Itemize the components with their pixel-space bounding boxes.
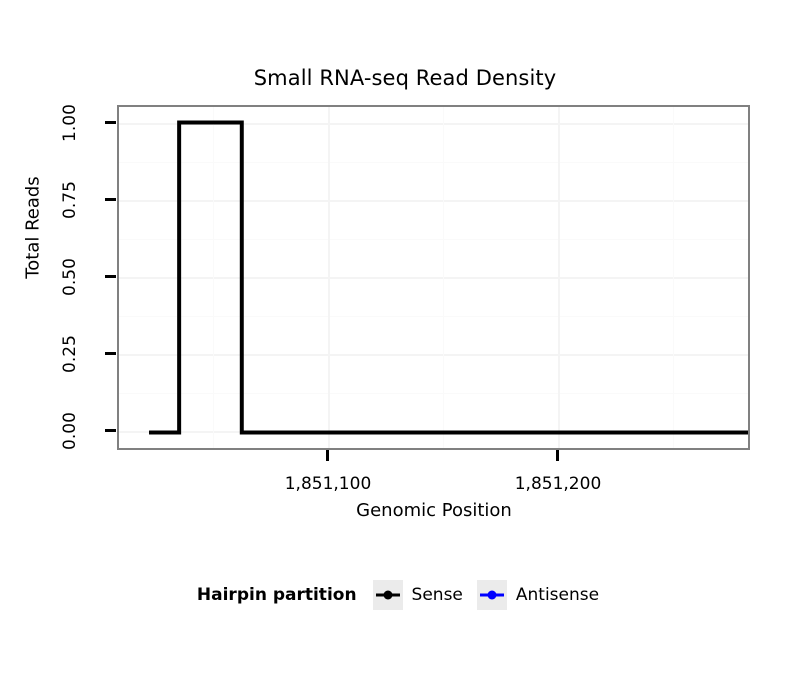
x-tick-mark-0 (326, 450, 329, 461)
y-tick-label-2: 0.50 (60, 247, 80, 307)
line-point-icon (375, 582, 401, 608)
legend: Hairpin partition Sense Antisense (0, 580, 810, 610)
x-axis-title: Genomic Position (117, 500, 751, 521)
chart-figure: Small RNA-seq Read Density Total Reads G… (0, 0, 810, 690)
y-tick-label-3: 0.75 (60, 170, 80, 230)
legend-key-antisense-icon (477, 580, 507, 610)
y-axis-title: Total Reads (23, 148, 44, 308)
legend-item-sense[interactable]: Sense (373, 580, 463, 610)
legend-title: Hairpin partition (197, 585, 357, 605)
y-tick-mark-3 (105, 198, 116, 201)
legend-label-antisense: Antisense (516, 585, 599, 605)
y-tick-mark-0 (105, 429, 116, 432)
y-tick-label-1: 0.25 (60, 324, 80, 384)
panel-inner (119, 107, 748, 448)
y-tick-mark-2 (105, 275, 116, 278)
plot-panel (117, 105, 750, 450)
chart-title: Small RNA-seq Read Density (0, 66, 810, 90)
y-tick-mark-4 (105, 121, 116, 124)
line-point-icon (479, 582, 505, 608)
x-tick-mark-1 (556, 450, 559, 461)
x-tick-label-0: 1,851,100 (248, 474, 408, 494)
y-tick-label-0: 0.00 (60, 401, 80, 461)
y-tick-label-4: 1.00 (60, 93, 80, 153)
y-tick-mark-1 (105, 352, 116, 355)
series-antisense-line (149, 122, 748, 432)
series-sense-line (149, 122, 748, 432)
legend-label-sense: Sense (412, 585, 463, 605)
data-layer (119, 107, 748, 448)
x-tick-label-1: 1,851,200 (478, 474, 638, 494)
legend-item-antisense[interactable]: Antisense (477, 580, 599, 610)
legend-key-sense-icon (373, 580, 403, 610)
